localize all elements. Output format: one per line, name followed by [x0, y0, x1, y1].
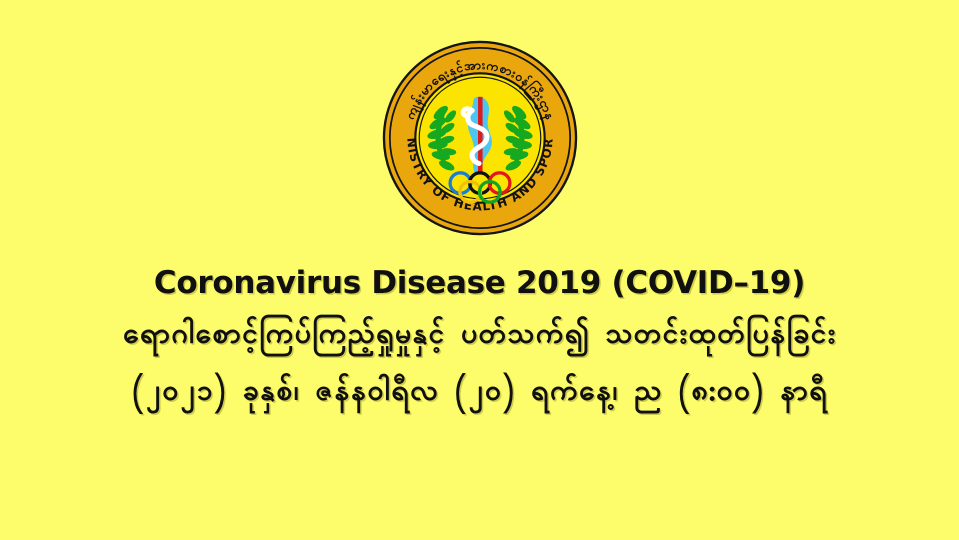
ministry-seal-svg: ကျန်းမာရေးနှင့်အားကစားဝန်ကြီးဌာန MINISTR…: [382, 40, 578, 236]
announcement-text-block: Coronavirus Disease 2019 (COVID–19) ရောဂ…: [0, 264, 959, 415]
announcement-title-english: Coronavirus Disease 2019 (COVID–19): [0, 264, 959, 303]
ministry-seal-emblem: ကျန်းမာရေးနှင့်အားကစားဝန်ကြီးဌာန MINISTR…: [382, 40, 578, 236]
announcement-subtitle-burmese: ရောဂါစောင့်ကြပ်ကြည့်ရှုမှုနှင့် ပတ်သက်၍ …: [0, 313, 959, 358]
covid-announcement-slide: ကျန်းမာရေးနှင့်အားကစားဝန်ကြီးဌာန MINISTR…: [0, 0, 959, 540]
announcement-datetime-burmese: (၂၀၂၁) ခုနှစ်၊ ဇန်နဝါရီလ (၂၀) ရက်နေ့၊ ည …: [0, 370, 959, 415]
